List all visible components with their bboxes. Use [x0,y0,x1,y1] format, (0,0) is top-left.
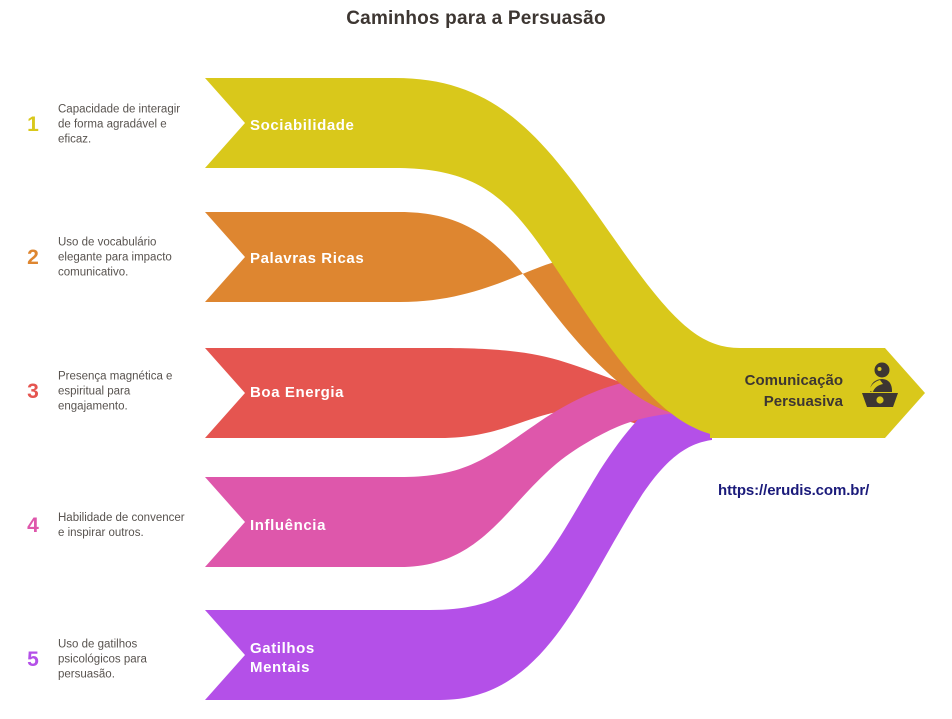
flow-ribbons [0,0,952,719]
ribbon-label-boa-energia: Boa Energia [250,383,344,402]
diagram-canvas: Caminhos para a Persuasão 1 Capacidade d… [0,0,952,719]
ribbon-label-palavras-ricas: Palavras Ricas [250,249,364,268]
ribbon-label-gatilhos-mentais: Gatilhos Mentais [250,639,315,677]
site-url-link[interactable]: https://erudis.com.br/ [718,482,869,499]
result-label: Comunicação Persuasiva [690,370,843,412]
ribbon-label-sociabilidade: Sociabilidade [250,116,355,135]
ribbon-label-influencia: Influência [250,516,326,535]
podium-speaker-icon [856,362,900,408]
